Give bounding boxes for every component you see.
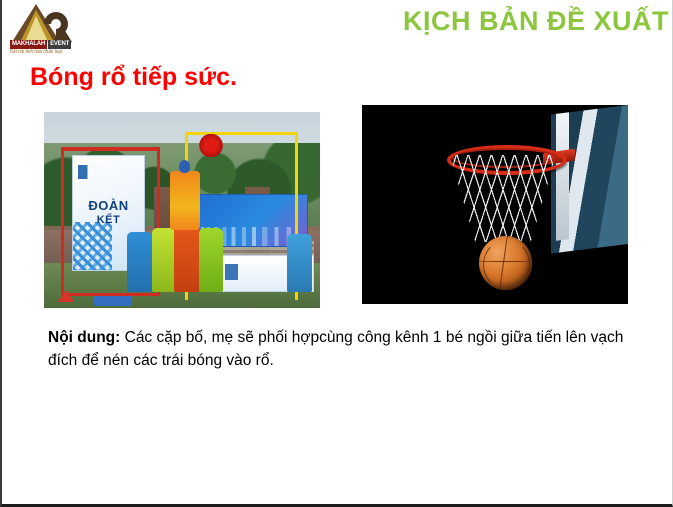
participant xyxy=(174,222,199,293)
lifted-child xyxy=(170,171,200,230)
basketball-hoop-photo xyxy=(362,105,628,304)
participant xyxy=(127,232,152,293)
logo-word-primary: MAKHALAH xyxy=(10,40,47,49)
basketball xyxy=(479,236,532,290)
slide-heading: Bóng rổ tiếp sức. xyxy=(30,62,237,92)
slide-body-text: Nội dung: Các cặp bố, mẹ sẽ phối hợpcùng… xyxy=(48,326,628,372)
content-label: Nội dung: xyxy=(48,329,120,346)
backboard-edge xyxy=(556,112,569,241)
participant xyxy=(152,228,177,293)
deck-title: KỊCH BẢN ĐỀ XUẤT xyxy=(403,6,669,36)
basketball-seam xyxy=(483,240,530,289)
participant xyxy=(287,234,312,293)
basketball-net xyxy=(450,155,556,243)
mountain-arc-logo-icon xyxy=(10,2,78,42)
company-logo: MAKHALAH EVENT Kết nối tinh hoa nhân loạ… xyxy=(8,2,80,60)
presentation-slide: MAKHALAH EVENT Kết nối tinh hoa nhân loạ… xyxy=(0,0,673,507)
red-decoration xyxy=(199,134,224,158)
logo-wordmark: MAKHALAH EVENT xyxy=(10,40,78,49)
participant xyxy=(199,228,224,293)
photo-scene-outdoor: ĐOÀN KẾT xyxy=(44,112,320,308)
banner-logo xyxy=(78,165,135,179)
slide-header: MAKHALAH EVENT Kết nối tinh hoa nhân loạ… xyxy=(2,0,673,60)
ground-mat xyxy=(94,296,133,306)
content-text: Các cặp bố, mẹ sẽ phối hợpcùng công kênh… xyxy=(48,329,623,369)
banner-text: ĐOÀN KẾT xyxy=(88,198,128,228)
photo-scene-basketball xyxy=(362,105,628,304)
logo-tagline: Kết nối tinh hoa nhân loại xyxy=(10,49,74,56)
logo-word-secondary: EVENT xyxy=(48,40,71,49)
team-building-photo: ĐOÀN KẾT xyxy=(44,112,320,308)
banner-line-1: ĐOÀN xyxy=(88,198,128,213)
banner-line-2: KẾT xyxy=(88,213,128,228)
